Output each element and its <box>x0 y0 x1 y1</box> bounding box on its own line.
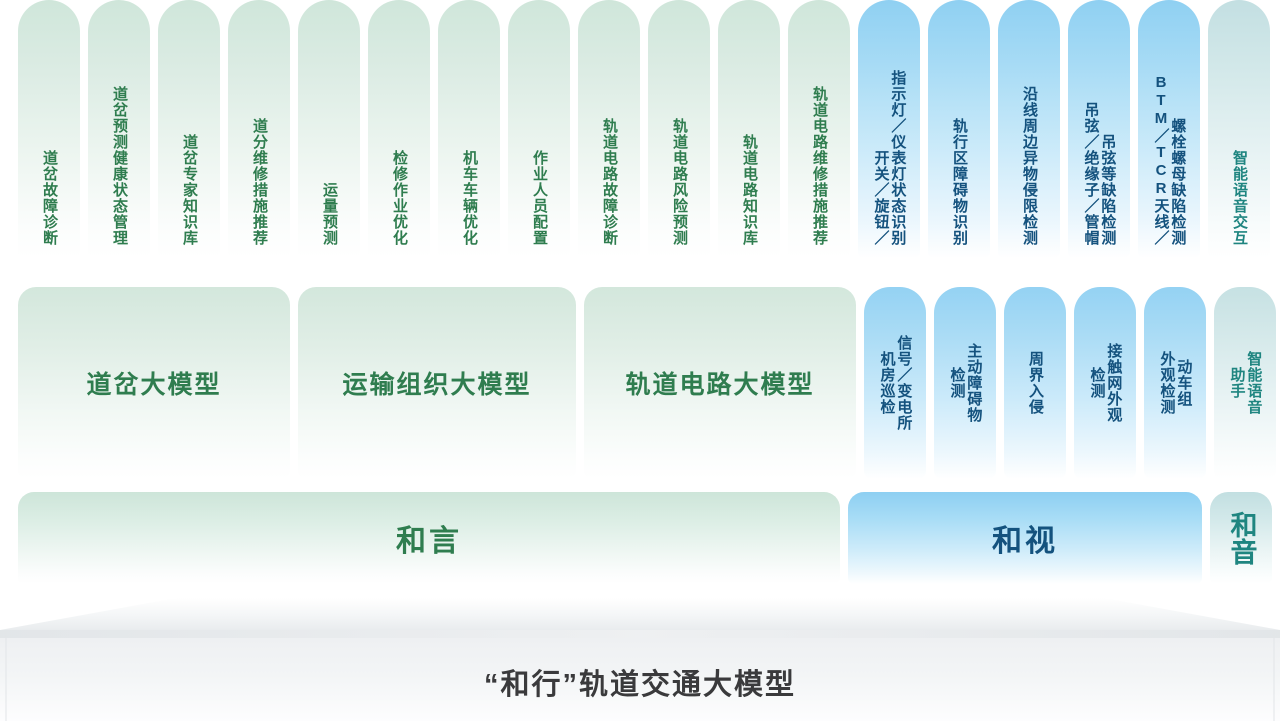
vertical-text: 主动障碍物检测 <box>949 343 982 423</box>
brand-bar[interactable]: 和视 <box>848 492 1202 584</box>
vertical-text: 道分维修措施推荐 <box>251 118 267 246</box>
vertical-text-line: 轨行区障碍物识别 <box>951 118 967 246</box>
vertical-text-line: 动车组 <box>1176 359 1192 407</box>
capability-capsule[interactable]: 智能语音助手 <box>1214 287 1276 479</box>
model-panel[interactable]: 道岔大模型 <box>18 287 290 479</box>
brand-layer-row: 和言和视和音 <box>0 492 1280 588</box>
vertical-text: 道岔预测健康状态管理 <box>111 86 127 246</box>
application-capsule[interactable]: 智能语音交互 <box>1208 0 1270 258</box>
application-capsule[interactable]: 螺栓螺母缺陷检测BTM／TCR天线／ <box>1138 0 1200 258</box>
vertical-text-line: 外观检测 <box>1159 351 1175 415</box>
capability-capsule[interactable]: 信号／变电所机房巡检 <box>864 287 926 479</box>
model-panel-title: 道岔大模型 <box>86 365 221 401</box>
foundation-title: “和行”轨道交通大模型 <box>0 596 1280 721</box>
application-capsule[interactable]: 轨道电路风险预测 <box>648 0 710 258</box>
vertical-text: 指示灯／仪表灯状态识别开关／旋钮／ <box>873 70 906 246</box>
brand-bar-label: 和音 <box>1228 511 1255 565</box>
model-layer-row: 道岔大模型运输组织大模型轨道电路大模型信号／变电所机房巡检主动障碍物检测周界入侵… <box>0 287 1280 483</box>
vertical-text-line: 吊弦／绝缘子／管帽 <box>1083 102 1099 246</box>
application-capsule[interactable]: 轨行区障碍物识别 <box>928 0 990 258</box>
application-capsule[interactable]: 运量预测 <box>298 0 360 258</box>
vertical-text: 沿线周边异物侵限检测 <box>1021 86 1037 246</box>
vertical-text: 信号／变电所机房巡检 <box>879 335 912 431</box>
vertical-text: 接触网外观检测 <box>1089 343 1122 423</box>
vertical-text-line: 机房巡检 <box>879 351 895 415</box>
vertical-text-line: 轨道电路维修措施推荐 <box>811 86 827 246</box>
vertical-text: 智能语音交互 <box>1231 150 1247 246</box>
vertical-text: 机车车辆优化 <box>461 150 477 246</box>
vertical-text: 道岔专家知识库 <box>181 134 197 246</box>
vertical-text-line: 助手 <box>1229 367 1245 399</box>
application-capsule[interactable]: 指示灯／仪表灯状态识别开关／旋钮／ <box>858 0 920 258</box>
vertical-text-line: 轨道电路故障诊断 <box>601 118 617 246</box>
vertical-text-line: 运量预测 <box>321 182 337 246</box>
vertical-text: 运量预测 <box>321 182 337 246</box>
vertical-text-line: 检测 <box>949 367 965 399</box>
vertical-text-line: 开关／旋钮／ <box>873 150 889 246</box>
vertical-text-line: 道分维修措施推荐 <box>251 118 267 246</box>
vertical-text: 检修作业优化 <box>391 150 407 246</box>
vertical-text: 轨道电路维修措施推荐 <box>811 86 827 246</box>
vertical-text-line: 轨道电路风险预测 <box>671 118 687 246</box>
vertical-text: 吊弦等缺陷检测吊弦／绝缘子／管帽 <box>1083 102 1116 246</box>
application-capsule[interactable]: 沿线周边异物侵限检测 <box>998 0 1060 258</box>
vertical-text: 周界入侵 <box>1027 351 1043 415</box>
model-panel[interactable]: 运输组织大模型 <box>298 287 576 479</box>
vertical-text-line: 道岔预测健康状态管理 <box>111 86 127 246</box>
vertical-text-line: 道岔专家知识库 <box>181 134 197 246</box>
application-capsule[interactable]: 轨道电路维修措施推荐 <box>788 0 850 258</box>
capability-capsule[interactable]: 动车组外观检测 <box>1144 287 1206 479</box>
vertical-text: 轨道电路知识库 <box>741 134 757 246</box>
application-capsule[interactable]: 检修作业优化 <box>368 0 430 258</box>
vertical-text-line: 吊弦等缺陷检测 <box>1100 134 1116 246</box>
vertical-text-line: 接触网外观 <box>1106 343 1122 423</box>
vertical-text-line: 机车车辆优化 <box>461 150 477 246</box>
vertical-text-line: 轨道电路知识库 <box>741 134 757 246</box>
application-capsule[interactable]: 道分维修措施推荐 <box>228 0 290 258</box>
vertical-text-line: 沿线周边异物侵限检测 <box>1021 86 1037 246</box>
vertical-text-line: 指示灯／仪表灯状态识别 <box>890 70 906 246</box>
foundation-platform: “和行”轨道交通大模型 <box>0 596 1280 721</box>
vertical-text: 道岔故障诊断 <box>41 150 57 246</box>
model-panel-title: 轨道电路大模型 <box>625 365 814 401</box>
capability-capsule[interactable]: 接触网外观检测 <box>1074 287 1136 479</box>
vertical-text-line: 智能语音 <box>1246 351 1262 415</box>
vertical-text: 动车组外观检测 <box>1159 351 1192 415</box>
architecture-diagram: 道岔故障诊断道岔预测健康状态管理道岔专家知识库道分维修措施推荐运量预测检修作业优… <box>0 0 1280 721</box>
application-capsule[interactable]: 道岔预测健康状态管理 <box>88 0 150 258</box>
vertical-text: 轨道电路故障诊断 <box>601 118 617 246</box>
vertical-text-line: 周界入侵 <box>1027 351 1043 415</box>
application-layer-row: 道岔故障诊断道岔预测健康状态管理道岔专家知识库道分维修措施推荐运量预测检修作业优… <box>0 0 1280 272</box>
brand-bar-label: 和视 <box>992 516 1058 560</box>
application-capsule[interactable]: 道岔故障诊断 <box>18 0 80 258</box>
brand-bar[interactable]: 和言 <box>18 492 840 584</box>
application-capsule[interactable]: 机车车辆优化 <box>438 0 500 258</box>
vertical-text: 作业人员配置 <box>531 150 547 246</box>
vertical-text-line: BTM／TCR天线／ <box>1153 74 1169 246</box>
brand-bar-label: 和言 <box>396 516 462 560</box>
capability-capsule[interactable]: 周界入侵 <box>1004 287 1066 479</box>
vertical-text: 智能语音助手 <box>1229 351 1262 415</box>
application-capsule[interactable]: 轨道电路故障诊断 <box>578 0 640 258</box>
vertical-text: 轨道电路风险预测 <box>671 118 687 246</box>
application-capsule[interactable]: 吊弦等缺陷检测吊弦／绝缘子／管帽 <box>1068 0 1130 258</box>
vertical-text-line: 信号／变电所 <box>896 335 912 431</box>
application-capsule[interactable]: 道岔专家知识库 <box>158 0 220 258</box>
vertical-text-line: 检修作业优化 <box>391 150 407 246</box>
brand-bar[interactable]: 和音 <box>1210 492 1272 584</box>
vertical-text-line: 作业人员配置 <box>531 150 547 246</box>
model-panel[interactable]: 轨道电路大模型 <box>584 287 856 479</box>
vertical-text-line: 螺栓螺母缺陷检测 <box>1170 118 1186 246</box>
vertical-text-line: 道岔故障诊断 <box>41 150 57 246</box>
vertical-text-line: 智能语音交互 <box>1231 150 1247 246</box>
model-panel-title: 运输组织大模型 <box>342 365 531 401</box>
vertical-text-line: 主动障碍物 <box>966 343 982 423</box>
application-capsule[interactable]: 轨道电路知识库 <box>718 0 780 258</box>
vertical-text: 螺栓螺母缺陷检测BTM／TCR天线／ <box>1153 74 1186 246</box>
vertical-text-line: 检测 <box>1089 367 1105 399</box>
capability-capsule[interactable]: 主动障碍物检测 <box>934 287 996 479</box>
vertical-text: 轨行区障碍物识别 <box>951 118 967 246</box>
application-capsule[interactable]: 作业人员配置 <box>508 0 570 258</box>
